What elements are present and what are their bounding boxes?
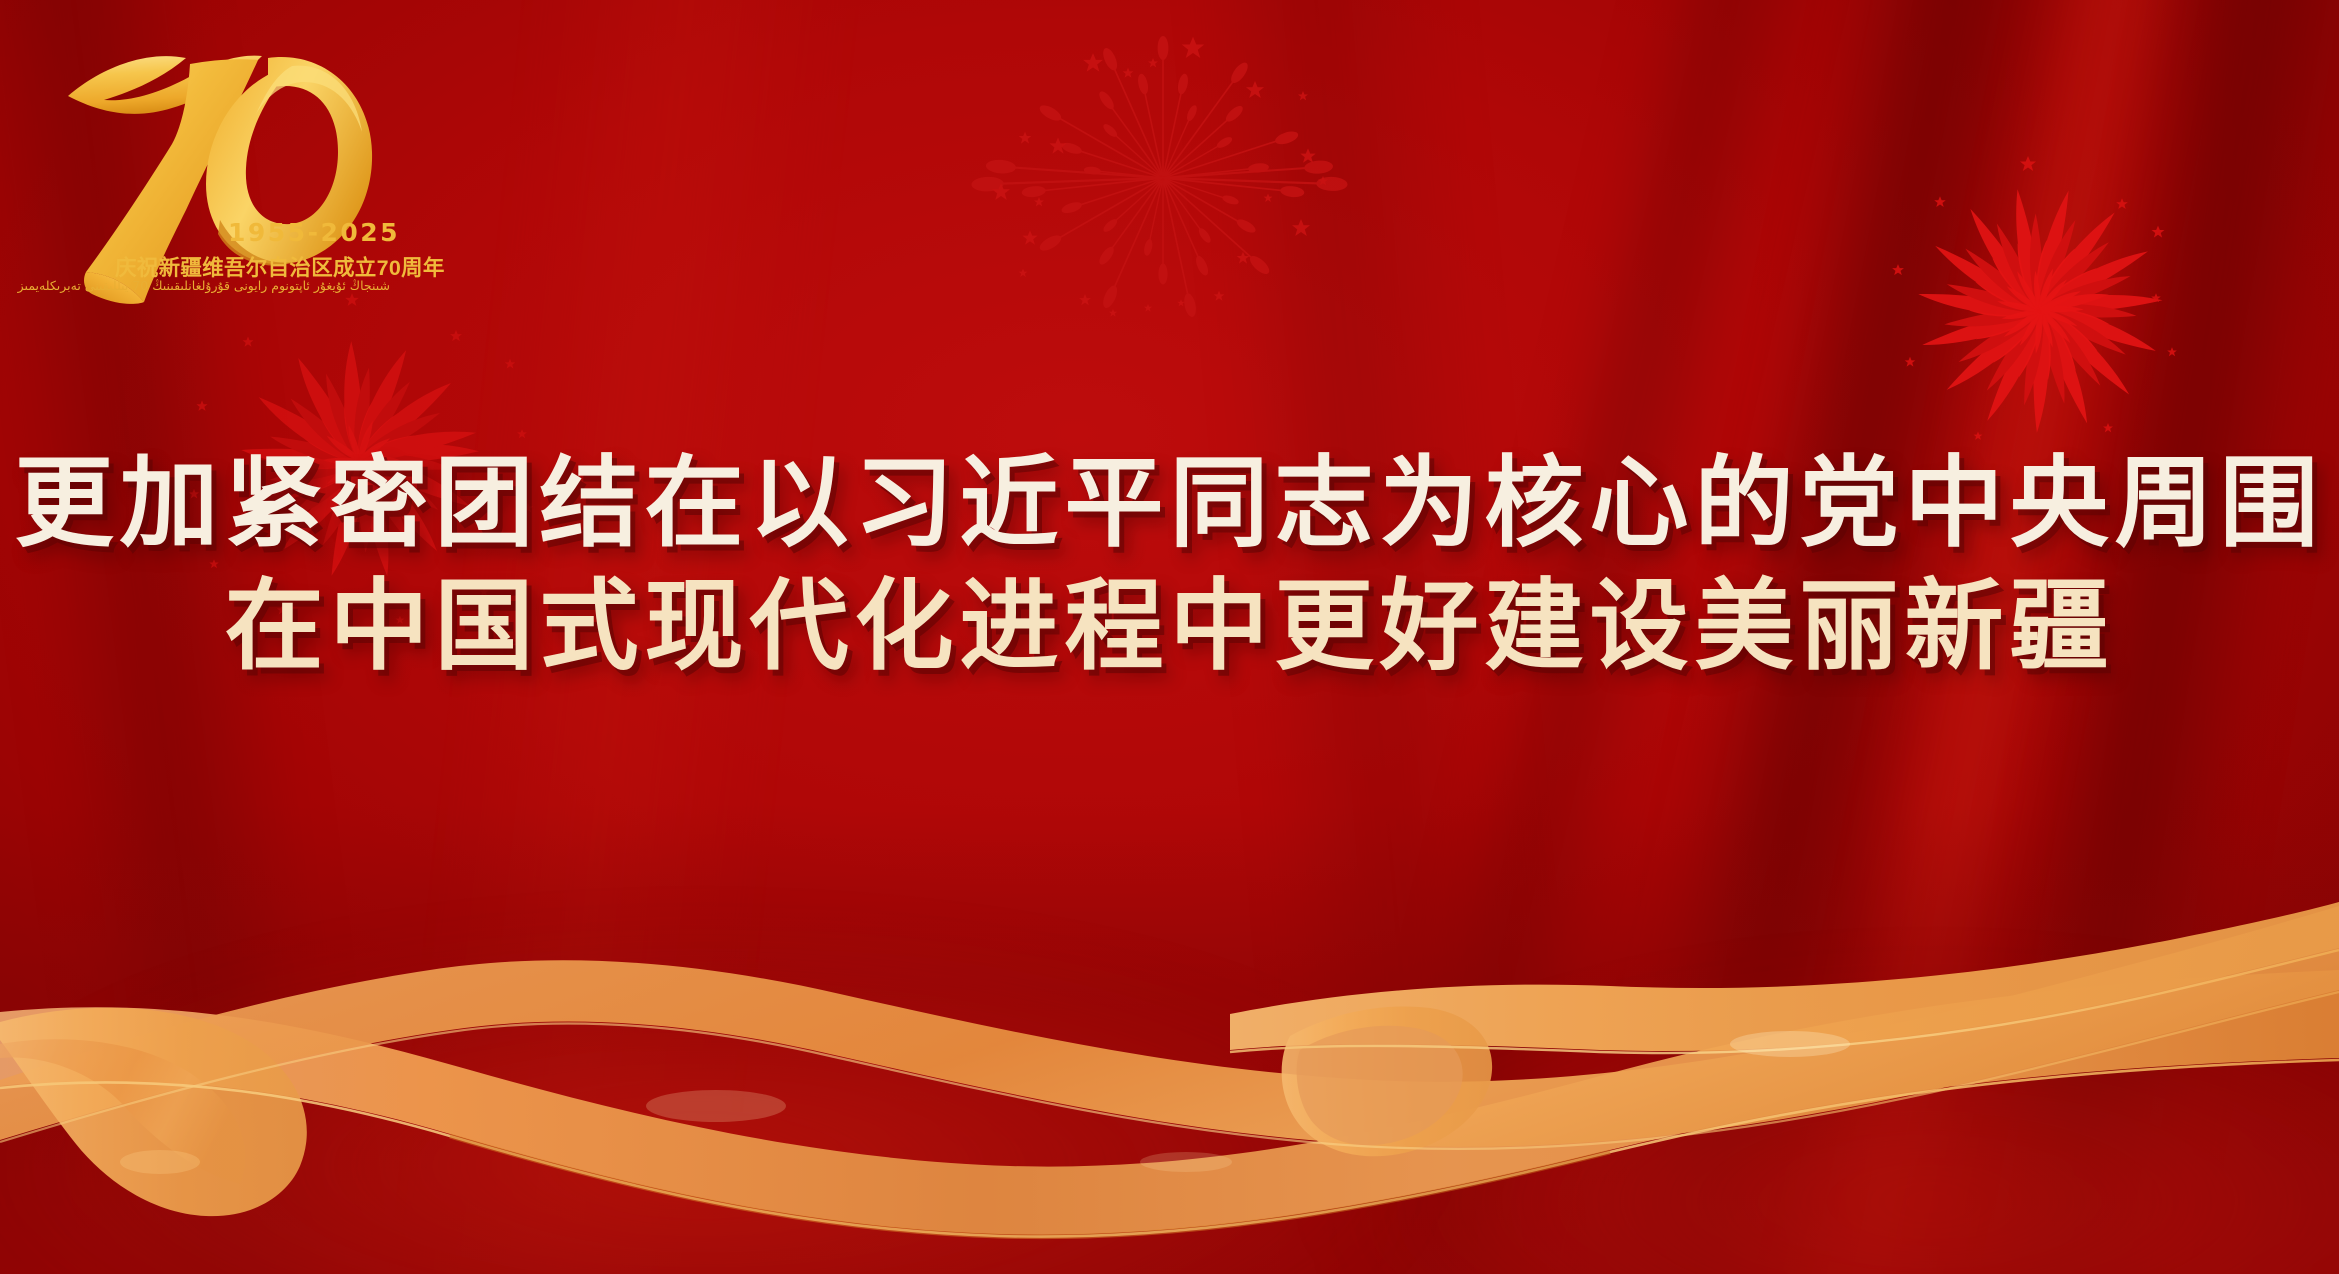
anniversary-emblem: 1955-2025 庆祝新疆维吾尔自治区成立70周年 شىنجاڭ ئۇيغۇر… (60, 34, 390, 364)
emblem-uyghur-caption: شىنجاڭ ئۇيغۇر ئاپتونوم رايونى قۇرۇلغانلى… (100, 278, 390, 293)
emblem-year-range: 1955-2025 (228, 218, 400, 247)
seventy-ribbon-icon (60, 34, 390, 364)
celebration-poster: 1955-2025 庆祝新疆维吾尔自治区成立70周年 شىنجاڭ ئۇيغۇر… (0, 0, 2339, 1274)
